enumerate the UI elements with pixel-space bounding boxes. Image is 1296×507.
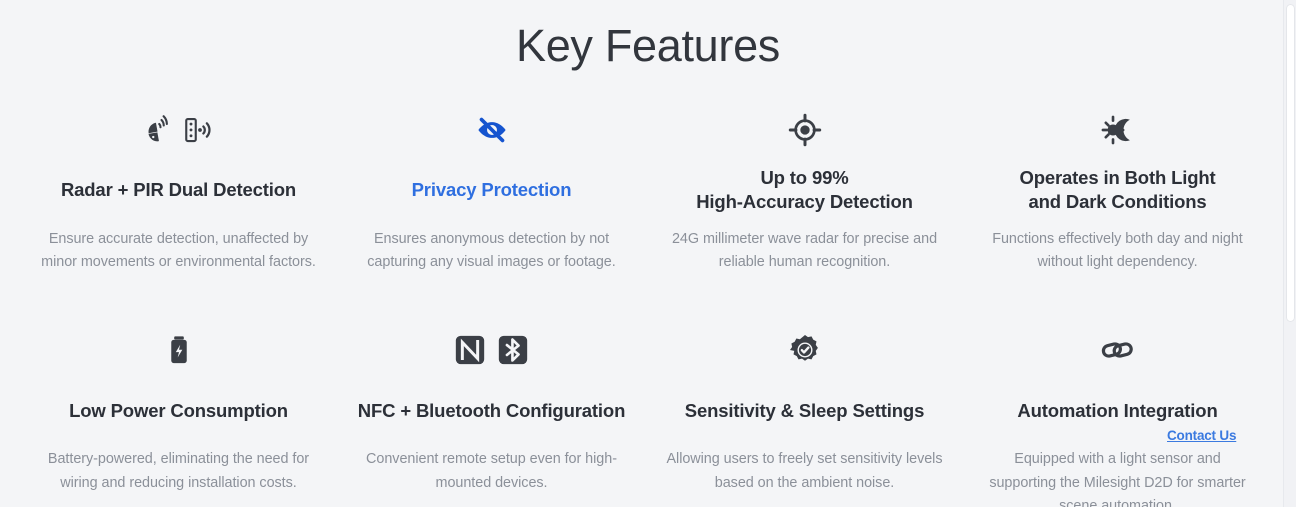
gear-check-icon xyxy=(788,333,822,367)
feature-icon-group xyxy=(144,106,213,154)
feature-icon-group xyxy=(163,326,195,374)
vertical-scrollbar-thumb[interactable] xyxy=(1286,4,1295,322)
feature-card-privacy-protection[interactable]: Privacy Protection Ensures anonymous det… xyxy=(335,106,648,275)
feature-icon-group xyxy=(453,326,530,374)
crosshair-target-icon xyxy=(788,113,822,147)
bluetooth-icon xyxy=(496,333,530,367)
feature-title: Privacy Protection xyxy=(412,166,572,215)
feature-title: Radar + PIR Dual Detection xyxy=(61,166,296,215)
feature-description: Ensure accurate detection, unaffected by… xyxy=(40,228,317,275)
chain-link-icon xyxy=(1100,332,1136,368)
key-features-page: Key Features xyxy=(0,0,1296,507)
feature-card-sensitivity-sleep-settings[interactable]: Sensitivity & Sleep Settings Allowing us… xyxy=(648,308,961,507)
feature-card-low-power-consumption[interactable]: Low Power Consumption Battery-powered, e… xyxy=(22,308,335,507)
feature-icon-group xyxy=(475,106,509,154)
feature-icon-group xyxy=(788,326,822,374)
feature-card-nfc-bluetooth-configuration[interactable]: NFC + Bluetooth Configuration Convenient… xyxy=(335,308,648,507)
radar-dish-icon xyxy=(144,115,174,145)
feature-icon-group xyxy=(788,106,822,154)
feature-description: Battery-powered, eliminating the need fo… xyxy=(40,448,317,495)
feature-description: Allowing users to freely set sensitivity… xyxy=(666,448,943,495)
feature-title-line-2: and Dark Conditions xyxy=(1028,191,1206,212)
feature-icon-group xyxy=(1100,326,1136,374)
features-grid-row-1: Radar + PIR Dual Detection Ensure accura… xyxy=(0,106,1296,275)
nfc-icon xyxy=(453,333,487,367)
feature-title: Up to 99% High-Accuracy Detection xyxy=(696,166,913,215)
feature-title-line-1: Operates in Both Light xyxy=(1019,167,1215,188)
features-grid-row-2: Low Power Consumption Battery-powered, e… xyxy=(0,308,1296,507)
feature-title: Low Power Consumption xyxy=(69,386,288,435)
feature-description: Equipped with a light sensor and support… xyxy=(979,448,1256,507)
feature-title-line-1: Up to 99% xyxy=(760,167,848,188)
battery-bolt-icon xyxy=(163,334,195,366)
feature-description: Functions effectively both day and night… xyxy=(979,228,1256,275)
feature-title-line-2: High-Accuracy Detection xyxy=(696,191,913,212)
page-title: Key Features xyxy=(0,0,1296,72)
feature-description: Convenient remote setup even for high-mo… xyxy=(353,448,630,495)
contact-us-link[interactable]: Contact Us xyxy=(1167,428,1236,443)
feature-card-high-accuracy-detection[interactable]: Up to 99% High-Accuracy Detection 24G mi… xyxy=(648,106,961,275)
feature-card-radar-pir-dual-detection[interactable]: Radar + PIR Dual Detection Ensure accura… xyxy=(22,106,335,275)
feature-title: Sensitivity & Sleep Settings xyxy=(685,386,924,435)
feature-description: 24G millimeter wave radar for precise an… xyxy=(666,228,943,275)
feature-title: NFC + Bluetooth Configuration xyxy=(358,386,625,435)
pir-sensor-icon xyxy=(183,115,213,145)
sun-moon-icon xyxy=(1100,112,1136,148)
feature-title: Operates in Both Light and Dark Conditio… xyxy=(1019,166,1215,215)
feature-icon-group xyxy=(1100,106,1136,154)
feature-card-automation-integration[interactable]: Automation Integration Equipped with a l… xyxy=(961,308,1274,507)
vertical-scrollbar-track[interactable] xyxy=(1283,0,1296,507)
eye-off-icon xyxy=(475,113,509,147)
feature-description: Ensures anonymous detection by not captu… xyxy=(353,228,630,275)
feature-card-light-and-dark-conditions[interactable]: Operates in Both Light and Dark Conditio… xyxy=(961,106,1274,275)
